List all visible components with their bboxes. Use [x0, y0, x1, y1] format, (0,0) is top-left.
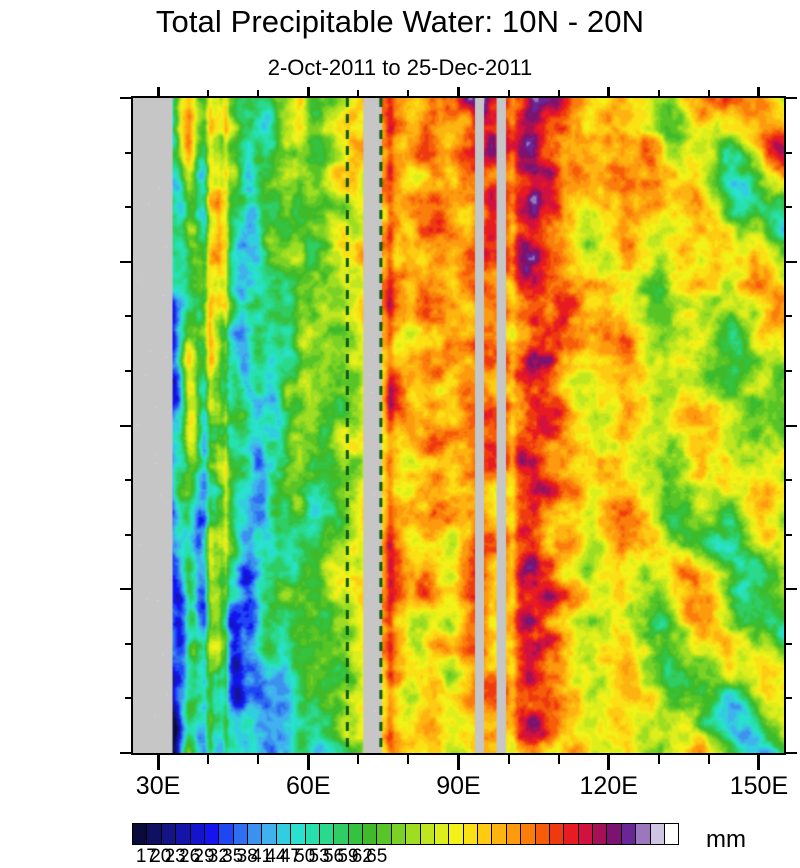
x-axis-tick-major [307, 755, 310, 770]
x-axis-tick-minor [357, 755, 359, 764]
y-axis-tick-minor [125, 643, 133, 645]
colorbar-swatch [636, 824, 650, 844]
colorbar-swatch [622, 824, 636, 844]
hovmoller-heatmap [133, 98, 784, 753]
x-axis-tick-minor-top [708, 90, 710, 96]
x-axis-label-2: 90E [379, 774, 539, 799]
y-axis-tick-major [120, 261, 133, 263]
colorbar-swatch [248, 824, 262, 844]
y-axis-tick-minor [125, 152, 133, 154]
colorbar-swatch [435, 824, 449, 844]
colorbar-swatch [363, 824, 377, 844]
y-axis-tick-major-right [784, 588, 797, 590]
colorbar-swatch [162, 824, 176, 844]
y-axis-tick-minor-right [784, 643, 792, 645]
y-axis-tick-minor-right [784, 697, 792, 699]
colorbar-swatch [421, 824, 435, 844]
y-axis-tick-minor-right [784, 206, 792, 208]
colorbar-swatch [449, 824, 463, 844]
x-axis-tick-minor-top [407, 90, 409, 96]
x-axis-label-3: 120E [529, 774, 689, 799]
colorbar-swatch [291, 824, 305, 844]
y-axis-tick-major [120, 425, 133, 427]
x-axis-label-4: 150E [679, 774, 800, 799]
y-axis-tick-major [120, 752, 133, 754]
y-axis-tick-minor [125, 697, 133, 699]
y-axis-tick-major [120, 97, 133, 99]
x-axis-tick-minor [508, 755, 510, 764]
y-axis-tick-major-right [784, 261, 797, 263]
colorbar-units-label: mm [706, 827, 746, 853]
y-axis-tick-minor-right [784, 534, 792, 536]
colorbar-swatch [665, 824, 678, 844]
x-axis-tick-major-top [457, 87, 460, 96]
colorbar-swatch [392, 824, 406, 844]
x-axis-tick-minor [257, 755, 259, 764]
x-axis-tick-major-top [157, 87, 160, 96]
colorbar-swatch [536, 824, 550, 844]
x-axis-tick-major [157, 755, 160, 770]
x-axis-tick-minor [558, 755, 560, 764]
x-axis-tick-minor-top [257, 90, 259, 96]
x-axis-tick-major-top [307, 87, 310, 96]
colorbar-swatch [377, 824, 391, 844]
colorbar-swatch [464, 824, 478, 844]
colorbar-swatch [550, 824, 564, 844]
x-axis-tick-minor-top [207, 90, 209, 96]
x-axis-tick-minor [708, 755, 710, 764]
colorbar-tick-labels: 1720232629323538414447505356596265 [132, 846, 679, 868]
chart-subtitle: 2-Oct-2011 to 25-Dec-2011 [0, 55, 800, 81]
x-axis-tick-major [607, 755, 610, 770]
colorbar-swatch [277, 824, 291, 844]
x-axis-tick-major-top [757, 87, 760, 96]
figure-root: Total Precipitable Water: 10N - 20N 2-Oc… [0, 0, 800, 867]
colorbar-swatch [133, 824, 147, 844]
x-axis-label-0: 30E [78, 774, 238, 799]
y-axis-tick-minor [125, 534, 133, 536]
colorbar-swatch [306, 824, 320, 844]
x-axis-tick-minor-top [508, 90, 510, 96]
colorbar-swatch [205, 824, 219, 844]
y-axis-tick-minor-right [784, 479, 792, 481]
y-axis-tick-minor [125, 479, 133, 481]
x-axis-tick-minor-top [357, 90, 359, 96]
x-axis-label-1: 60E [228, 774, 388, 799]
colorbar-swatch [564, 824, 578, 844]
colorbar-swatch [651, 824, 665, 844]
x-axis-tick-minor [658, 755, 660, 764]
y-axis-tick-minor-right [784, 315, 792, 317]
y-axis-tick-major-right [784, 97, 797, 99]
x-axis-tick-major [457, 755, 460, 770]
y-axis-tick-major-right [784, 752, 797, 754]
x-axis-tick-minor-top [558, 90, 560, 96]
colorbar-swatch [492, 824, 506, 844]
colorbar-tick-label: 65 [357, 846, 397, 867]
colorbar-swatch [147, 824, 161, 844]
y-axis-tick-minor [125, 206, 133, 208]
y-axis-tick-minor [125, 370, 133, 372]
colorbar-swatch [262, 824, 276, 844]
x-axis-tick-major-top [607, 87, 610, 96]
colorbar [132, 823, 679, 845]
colorbar-swatch [334, 824, 348, 844]
colorbar-swatch [507, 824, 521, 844]
colorbar-swatch [579, 824, 593, 844]
x-axis-tick-major [757, 755, 760, 770]
y-axis-tick-major-right [784, 425, 797, 427]
x-axis-tick-minor-top [658, 90, 660, 96]
y-axis-tick-major [120, 588, 133, 590]
colorbar-swatch [176, 824, 190, 844]
colorbar-swatch [521, 824, 535, 844]
x-axis-tick-minor [207, 755, 209, 764]
colorbar-swatch [593, 824, 607, 844]
colorbar-swatch [219, 824, 233, 844]
page-title: Total Precipitable Water: 10N - 20N [0, 4, 800, 40]
y-axis-tick-minor [125, 315, 133, 317]
colorbar-swatch [234, 824, 248, 844]
y-axis-tick-minor-right [784, 370, 792, 372]
colorbar-swatch [406, 824, 420, 844]
colorbar-swatch [191, 824, 205, 844]
colorbar-swatch [349, 824, 363, 844]
colorbar-swatch [478, 824, 492, 844]
y-axis-tick-minor-right [784, 152, 792, 154]
x-axis-tick-minor [407, 755, 409, 764]
colorbar-swatch [320, 824, 334, 844]
plot-area: 30E60E90E120E150E [131, 96, 786, 755]
colorbar-swatch [607, 824, 621, 844]
